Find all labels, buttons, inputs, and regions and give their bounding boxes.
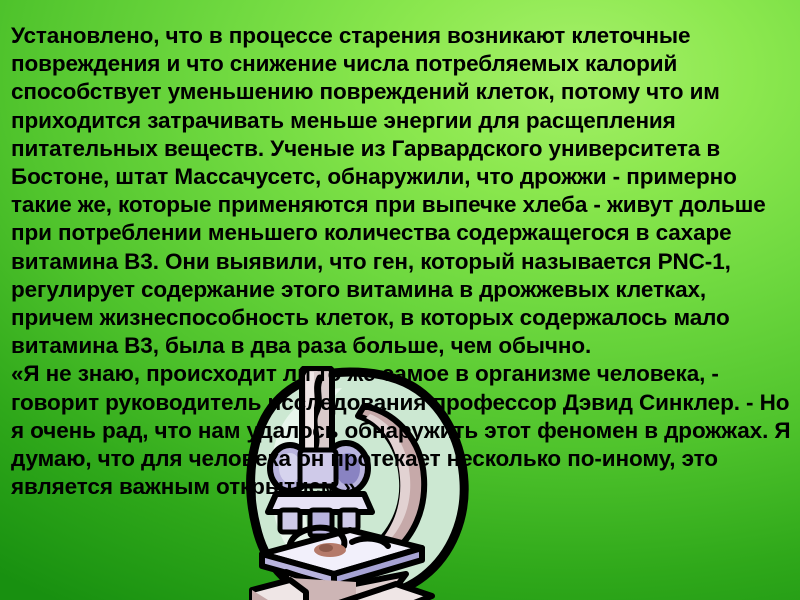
microscope-base	[252, 572, 432, 600]
slide-canvas: Установлено, что в процессе старения воз…	[0, 0, 800, 600]
slide-body-text: Установлено, что в процессе старения воз…	[11, 22, 793, 501]
paragraph-1: Установлено, что в процессе старения воз…	[11, 22, 793, 360]
paragraph-2: «Я не знаю, происходит ли то же самое в …	[11, 360, 793, 501]
microscope-stage	[262, 528, 422, 586]
